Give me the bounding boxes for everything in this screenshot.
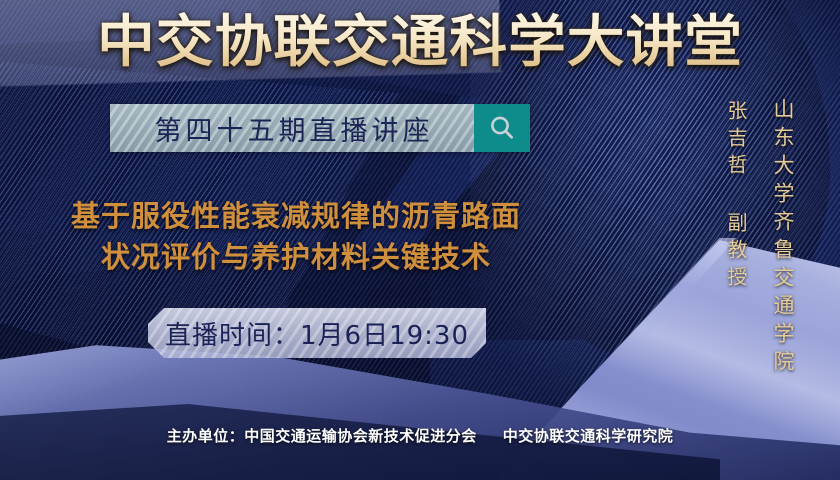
search-icon — [487, 113, 517, 143]
speaker-affiliation: 山东大学齐鲁交通学院 — [768, 98, 798, 378]
speaker-name: 张吉哲 副教授 — [722, 100, 751, 293]
organizer-primary: 主办单位：中国交通运输协会新技术促进分会 — [167, 427, 477, 445]
broadcast-time-label: 直播时间：1月6日19:30 — [165, 315, 469, 352]
organizer-footer: 主办单位：中国交通运输协会新技术促进分会中交协联交通科学研究院 — [0, 425, 840, 446]
lecture-title: 基于服役性能衰减规律的沥青路面 状况评价与养护材料关键技术 — [16, 196, 576, 278]
livestream-poster: 中交协联交通科学大讲堂 第四十五期直播讲座 基于服役性能衰减规律的沥青路面 状况… — [0, 0, 840, 480]
episode-label-panel: 第四十五期直播讲座 — [110, 104, 474, 152]
lecture-title-line-1: 基于服役性能衰减规律的沥青路面 — [16, 196, 576, 237]
episode-banner: 第四十五期直播讲座 — [110, 104, 530, 152]
lecture-title-line-2: 状况评价与养护材料关键技术 — [16, 237, 576, 278]
organizer-secondary: 中交协联交通科学研究院 — [503, 427, 674, 445]
search-button[interactable] — [474, 104, 530, 152]
page-title: 中交协联交通科学大讲堂 — [0, 12, 840, 74]
episode-label: 第四十五期直播讲座 — [151, 109, 434, 148]
status-badge: 直播时间：1月6日19:30 — [148, 308, 486, 358]
